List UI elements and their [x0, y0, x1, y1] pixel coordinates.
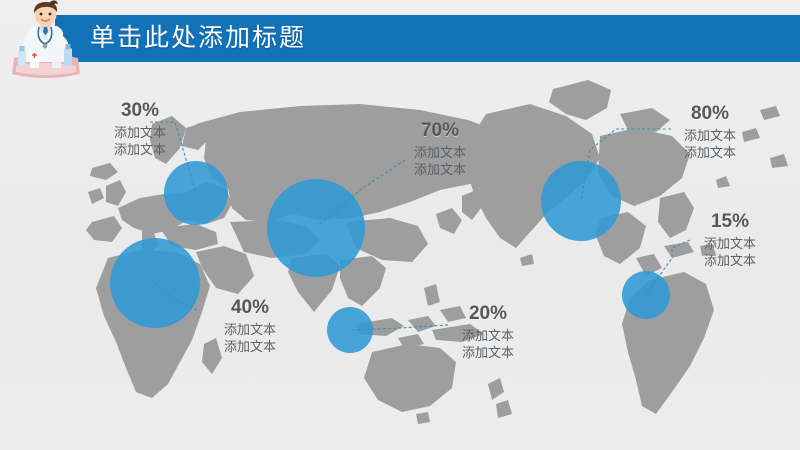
text2-marker-70: 添加文本: [386, 161, 494, 178]
label-marker-40: 40% 添加文本 添加文本: [196, 297, 304, 355]
text1-marker-40: 添加文本: [196, 321, 304, 338]
slide-canvas: 单击此处添加标题: [0, 0, 800, 450]
bubble-marker-80[interactable]: [541, 161, 621, 241]
text2-marker-40: 添加文本: [196, 338, 304, 355]
percent-marker-40: 40%: [196, 297, 304, 319]
text1-marker-20: 添加文本: [434, 327, 542, 344]
label-marker-15: 15% 添加文本 添加文本: [676, 211, 784, 269]
percent-marker-80: 80%: [656, 103, 764, 125]
label-marker-30: 30% 添加文本 添加文本: [86, 100, 194, 158]
percent-marker-30: 30%: [86, 100, 194, 122]
percent-marker-20: 20%: [434, 303, 542, 325]
percent-marker-15: 15%: [676, 211, 784, 233]
label-marker-80: 80% 添加文本 添加文本: [656, 103, 764, 161]
text1-marker-70: 添加文本: [386, 144, 494, 161]
text2-marker-30: 添加文本: [86, 141, 194, 158]
text1-marker-30: 添加文本: [86, 124, 194, 141]
doctor-illustration-icon: [6, 0, 84, 80]
text2-marker-15: 添加文本: [676, 252, 784, 269]
percent-marker-70: 70%: [386, 120, 494, 142]
text1-marker-15: 添加文本: [676, 235, 784, 252]
text2-marker-20: 添加文本: [434, 344, 542, 361]
text1-marker-80: 添加文本: [656, 127, 764, 144]
label-marker-20: 20% 添加文本 添加文本: [434, 303, 542, 361]
bubble-marker-15[interactable]: [622, 271, 670, 319]
bubble-marker-30[interactable]: [164, 161, 228, 225]
label-marker-70: 70% 添加文本 添加文本: [386, 120, 494, 178]
bubble-marker-20[interactable]: [327, 307, 373, 353]
bubble-marker-40[interactable]: [110, 238, 200, 328]
bubble-marker-70[interactable]: [267, 179, 365, 277]
text2-marker-80: 添加文本: [656, 144, 764, 161]
page-title: 单击此处添加标题: [90, 21, 306, 55]
